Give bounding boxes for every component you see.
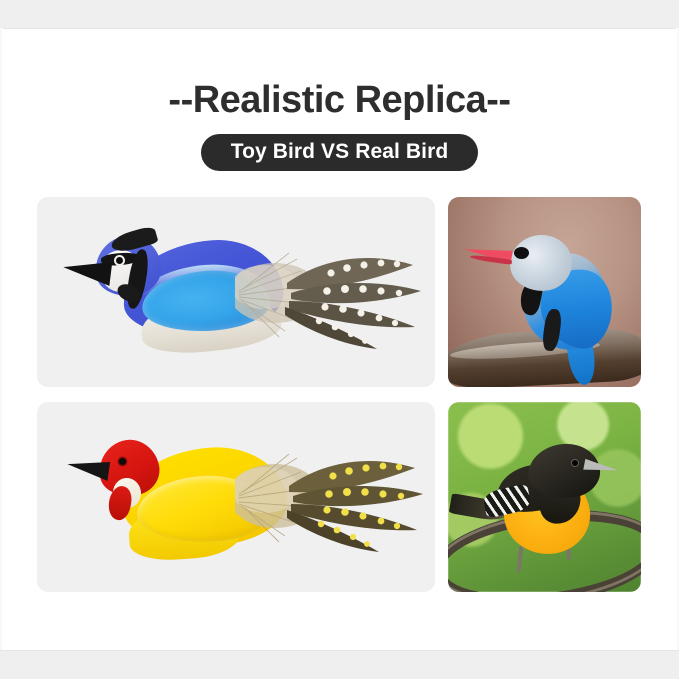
comparison-row bbox=[37, 402, 641, 592]
subtitle-row: Toy Bird VS Real Bird bbox=[0, 134, 679, 171]
blue-jay-toy-bird-card bbox=[37, 197, 435, 387]
yellow-red-head-toy-bird-card bbox=[37, 402, 435, 592]
bottom-band-divider bbox=[0, 650, 679, 651]
woodland-kingfisher-photo-card bbox=[448, 197, 641, 387]
oriole-eye bbox=[572, 460, 578, 466]
toy-bird-eye bbox=[119, 458, 126, 465]
page-title: --Realistic Replica-- bbox=[0, 28, 679, 119]
comparison-grid bbox=[37, 197, 641, 595]
comparison-row bbox=[37, 197, 641, 387]
header: --Realistic Replica-- Toy Bird VS Real B… bbox=[0, 28, 679, 188]
blue-jay-toy-bird-image bbox=[37, 197, 435, 387]
toy-bird-tail-feathers bbox=[235, 440, 425, 556]
kingfisher-eye bbox=[514, 247, 529, 259]
toy-bird-tail-feathers bbox=[235, 235, 425, 351]
oriole-photo-card bbox=[448, 402, 641, 592]
toy-bird-beak bbox=[62, 256, 113, 286]
comparison-badge: Toy Bird VS Real Bird bbox=[201, 134, 479, 171]
yellow-red-head-toy-bird-image bbox=[37, 402, 435, 592]
top-gray-band bbox=[0, 0, 679, 28]
toy-bird-eye bbox=[116, 257, 123, 264]
bottom-gray-band bbox=[0, 650, 679, 679]
